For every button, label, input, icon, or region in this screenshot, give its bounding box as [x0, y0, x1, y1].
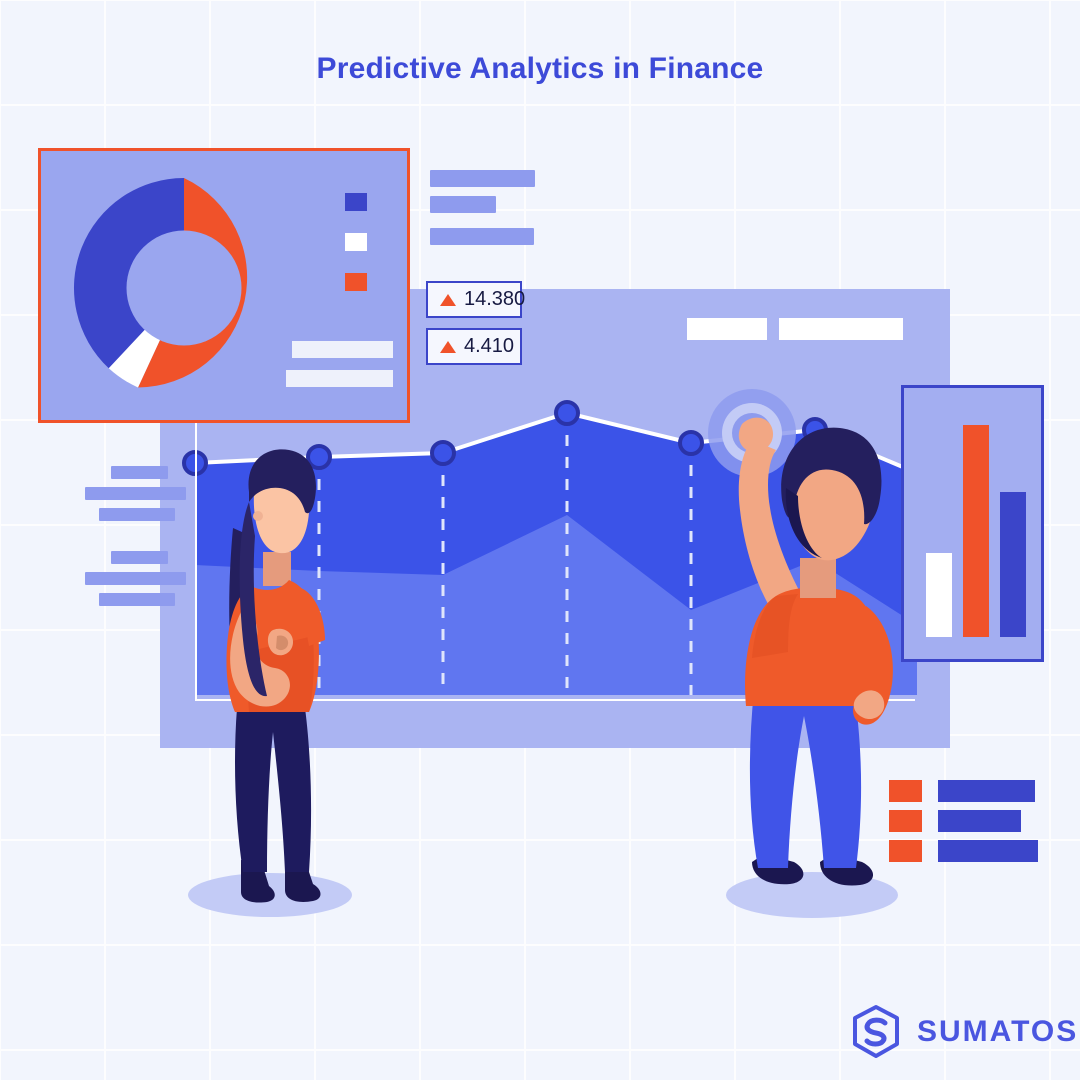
kpi-value: 4.410 — [464, 335, 514, 358]
brand-name: SUMATOS — [917, 1015, 1078, 1049]
triangle-up-icon — [440, 294, 456, 306]
header-placeholder-bar-2 — [430, 196, 496, 213]
legend-row-3-bar — [938, 840, 1038, 862]
bar-category-a — [926, 553, 952, 637]
shield-s-icon — [852, 1005, 900, 1059]
header-placeholder-bar-1 — [430, 170, 535, 187]
sidebar-placeholder-bar-6 — [99, 593, 175, 606]
header-placeholder-bar-3 — [430, 228, 534, 245]
person-analyst-male — [690, 400, 920, 920]
panel-placeholder-bar-1 — [687, 318, 767, 340]
legend-row-2-bar — [938, 810, 1021, 832]
sidebar-placeholder-bar-5 — [85, 572, 186, 585]
legend-row-1-bar — [938, 780, 1035, 802]
person-analyst-female — [185, 440, 365, 920]
donut-legend-swatch-2 — [345, 233, 367, 251]
bar-category-c — [1000, 492, 1026, 637]
poster-canvas: Predictive Analytics in Finance — [0, 0, 1080, 1080]
legend-row-3-swatch — [889, 840, 922, 862]
legend-row-1-swatch — [889, 780, 922, 802]
donut-legend-swatch-1 — [345, 193, 367, 211]
brand-logo[interactable]: SUMATOS — [852, 1005, 1078, 1059]
comparison-bar-chart-card — [901, 385, 1044, 662]
sidebar-placeholder-bar-4 — [111, 551, 168, 564]
page-title: Predictive Analytics in Finance — [0, 52, 1080, 86]
revenue-donut — [59, 163, 309, 413]
sidebar-placeholder-bar-1 — [111, 466, 168, 479]
donut-legend-placeholder-2 — [286, 370, 393, 387]
figure-shadow — [726, 872, 898, 918]
donut-chart-card — [38, 148, 410, 423]
panel-placeholder-bar-2 — [779, 318, 903, 340]
kpi-badge-secondary[interactable]: 4.410 — [426, 328, 522, 365]
triangle-up-icon — [440, 341, 456, 353]
legend-row-2-swatch — [889, 810, 922, 832]
kpi-badge-primary[interactable]: 14.380 — [426, 281, 522, 318]
bar-category-b — [963, 425, 989, 637]
donut-legend-swatch-3 — [345, 273, 367, 291]
kpi-value: 14.380 — [464, 288, 525, 311]
sidebar-placeholder-bar-2 — [85, 487, 186, 500]
sidebar-placeholder-bar-3 — [99, 508, 175, 521]
donut-legend-placeholder-1 — [292, 341, 393, 358]
donut-hole — [127, 231, 242, 346]
